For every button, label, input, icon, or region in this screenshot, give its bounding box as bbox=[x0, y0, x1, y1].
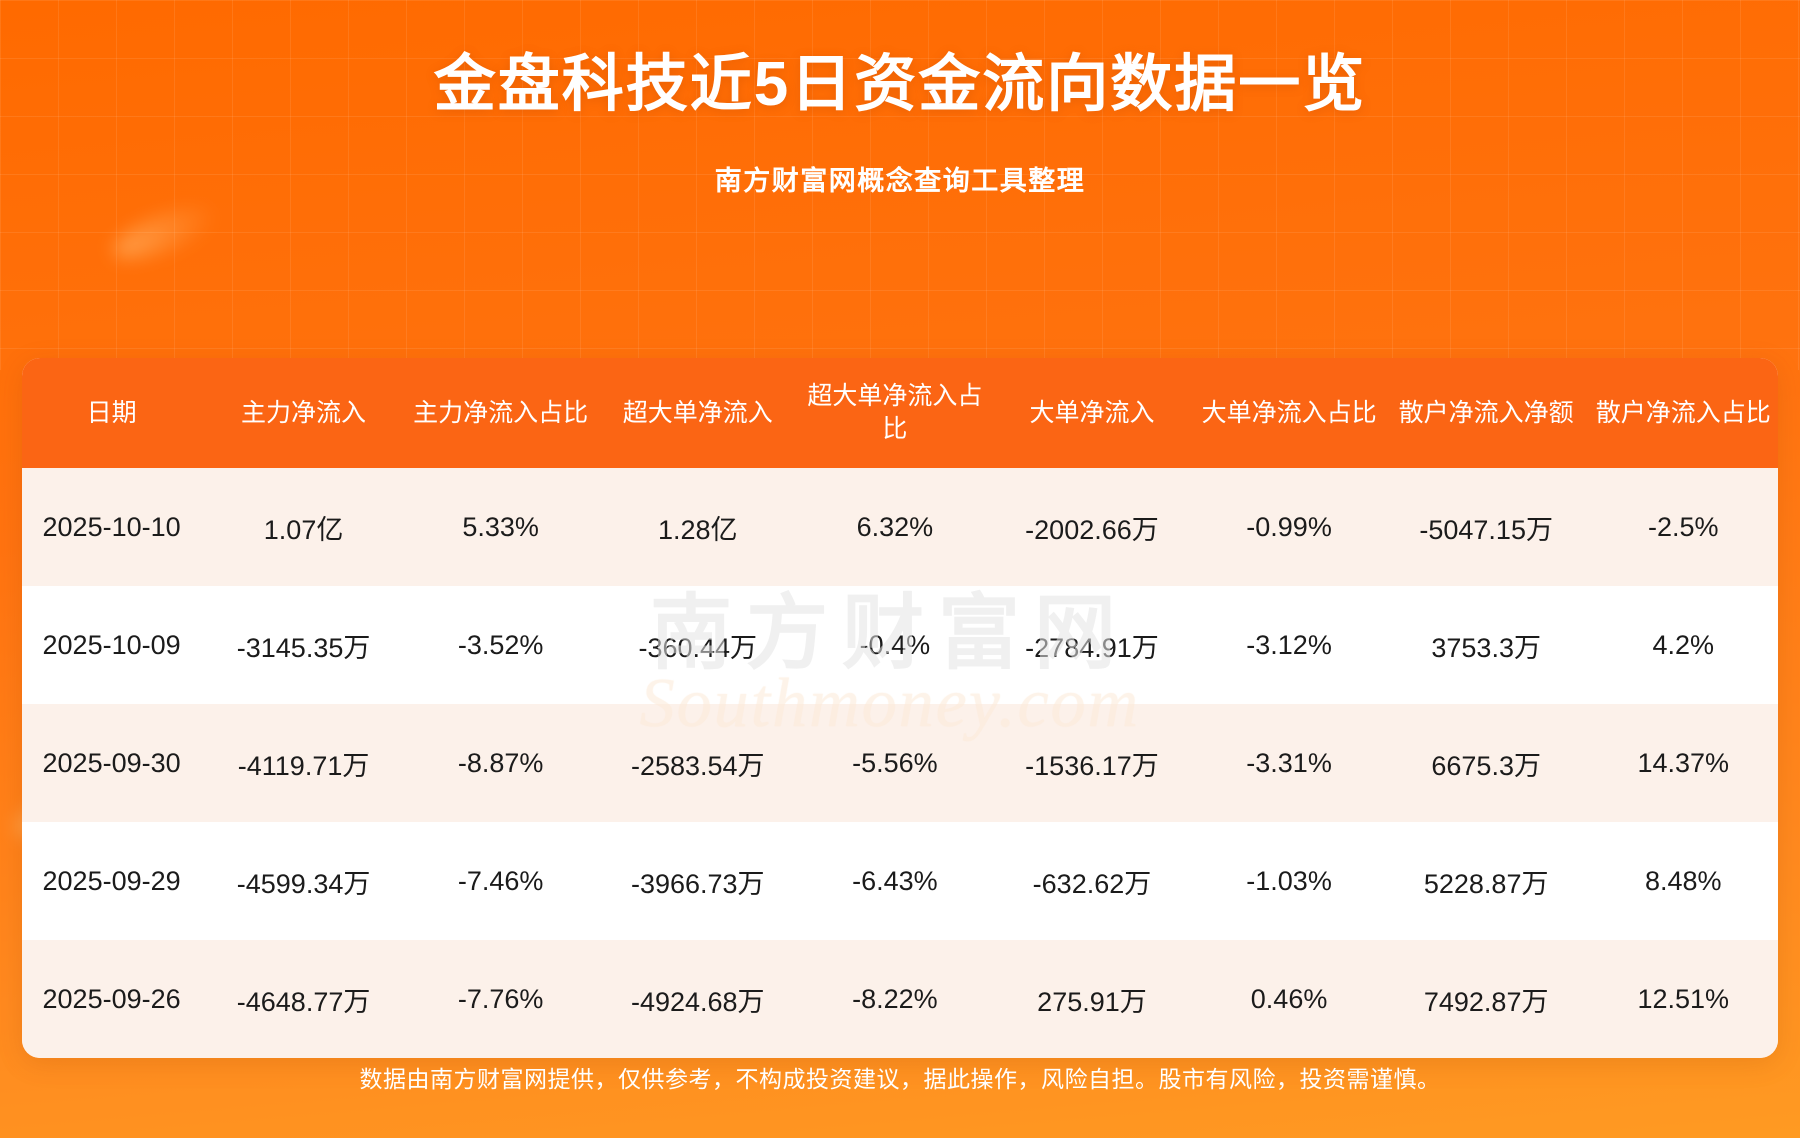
cell-retail-pct: 14.37% bbox=[1589, 704, 1778, 822]
cell-date: 2025-09-29 bbox=[22, 822, 201, 940]
cell-main-net: 1.07亿 bbox=[201, 468, 406, 586]
cell-main-pct: 5.33% bbox=[406, 468, 595, 586]
column-header-main-net: 主力净流入 bbox=[201, 358, 406, 468]
table-row: 2025-10-10 1.07亿 5.33% 1.28亿 6.32% -2002… bbox=[22, 468, 1778, 586]
cell-date: 2025-10-09 bbox=[22, 586, 201, 704]
hero-section: 金盘科技近5日资金流向数据一览 南方财富网概念查询工具整理 bbox=[0, 0, 1800, 198]
table-row: 2025-10-09 -3145.35万 -3.52% -360.44万 -0.… bbox=[22, 586, 1778, 704]
fund-flow-table: 日期 主力净流入 主力净流入占比 超大单净流入 超大单净流入占比 大单净流入 大… bbox=[22, 358, 1778, 1058]
column-header-lg-net: 大单净流入 bbox=[990, 358, 1195, 468]
cell-date: 2025-10-10 bbox=[22, 468, 201, 586]
cell-xl-net: -3966.73万 bbox=[595, 822, 800, 940]
light-streak-icon bbox=[108, 196, 223, 269]
cell-date: 2025-09-30 bbox=[22, 704, 201, 822]
cell-lg-pct: -3.31% bbox=[1194, 704, 1383, 822]
page-title: 金盘科技近5日资金流向数据一览 bbox=[0, 48, 1800, 121]
infographic-page: 金盘科技近5日资金流向数据一览 南方财富网概念查询工具整理 南方财富网 Sout… bbox=[0, 0, 1800, 1138]
cell-retail-net: 5228.87万 bbox=[1384, 822, 1589, 940]
cell-retail-net: 6675.3万 bbox=[1384, 704, 1589, 822]
fund-flow-table-card: 南方财富网 Southmoney.com 日期 主力净流入 主力净流入占比 超大… bbox=[22, 358, 1778, 1058]
column-header-xl-net: 超大单净流入 bbox=[595, 358, 800, 468]
cell-xl-net: 1.28亿 bbox=[595, 468, 800, 586]
cell-lg-net: -2784.91万 bbox=[990, 586, 1195, 704]
cell-retail-pct: 4.2% bbox=[1589, 586, 1778, 704]
table-row: 2025-09-29 -4599.34万 -7.46% -3966.73万 -6… bbox=[22, 822, 1778, 940]
cell-xl-net: -2583.54万 bbox=[595, 704, 800, 822]
cell-xl-pct: 6.32% bbox=[800, 468, 989, 586]
footer-bar: 数据由南方财富网提供，仅供参考，不构成投资建议，据此操作，风险自担。股市有风险，… bbox=[0, 1016, 1800, 1138]
cell-xl-pct: -0.4% bbox=[800, 586, 989, 704]
disclaimer-text: 数据由南方财富网提供，仅供参考，不构成投资建议，据此操作，风险自担。股市有风险，… bbox=[360, 1060, 1441, 1094]
cell-lg-net: -2002.66万 bbox=[990, 468, 1195, 586]
column-header-date: 日期 bbox=[22, 358, 201, 468]
cell-retail-net: -5047.15万 bbox=[1384, 468, 1589, 586]
cell-main-net: -4599.34万 bbox=[201, 822, 406, 940]
cell-lg-pct: -1.03% bbox=[1194, 822, 1383, 940]
cell-main-pct: -8.87% bbox=[406, 704, 595, 822]
column-header-xl-pct: 超大单净流入占比 bbox=[800, 358, 989, 468]
cell-lg-pct: -3.12% bbox=[1194, 586, 1383, 704]
column-header-retail-pct: 散户净流入占比 bbox=[1589, 358, 1778, 468]
table-row: 2025-09-30 -4119.71万 -8.87% -2583.54万 -5… bbox=[22, 704, 1778, 822]
cell-xl-pct: -5.56% bbox=[800, 704, 989, 822]
page-subtitle: 南方财富网概念查询工具整理 bbox=[0, 159, 1800, 198]
cell-main-pct: -3.52% bbox=[406, 586, 595, 704]
column-header-main-pct: 主力净流入占比 bbox=[406, 358, 595, 468]
cell-retail-net: 3753.3万 bbox=[1384, 586, 1589, 704]
cell-lg-net: -1536.17万 bbox=[990, 704, 1195, 822]
cell-main-net: -3145.35万 bbox=[201, 586, 406, 704]
table-body: 2025-10-10 1.07亿 5.33% 1.28亿 6.32% -2002… bbox=[22, 468, 1778, 1058]
cell-xl-pct: -6.43% bbox=[800, 822, 989, 940]
cell-retail-pct: -2.5% bbox=[1589, 468, 1778, 586]
cell-lg-pct: -0.99% bbox=[1194, 468, 1383, 586]
cell-retail-pct: 8.48% bbox=[1589, 822, 1778, 940]
column-header-lg-pct: 大单净流入占比 bbox=[1194, 358, 1383, 468]
column-header-retail-net: 散户净流入净额 bbox=[1384, 358, 1589, 468]
cell-main-pct: -7.46% bbox=[406, 822, 595, 940]
cell-xl-net: -360.44万 bbox=[595, 586, 800, 704]
cell-lg-net: -632.62万 bbox=[990, 822, 1195, 940]
cell-main-net: -4119.71万 bbox=[201, 704, 406, 822]
table-header-row: 日期 主力净流入 主力净流入占比 超大单净流入 超大单净流入占比 大单净流入 大… bbox=[22, 358, 1778, 468]
